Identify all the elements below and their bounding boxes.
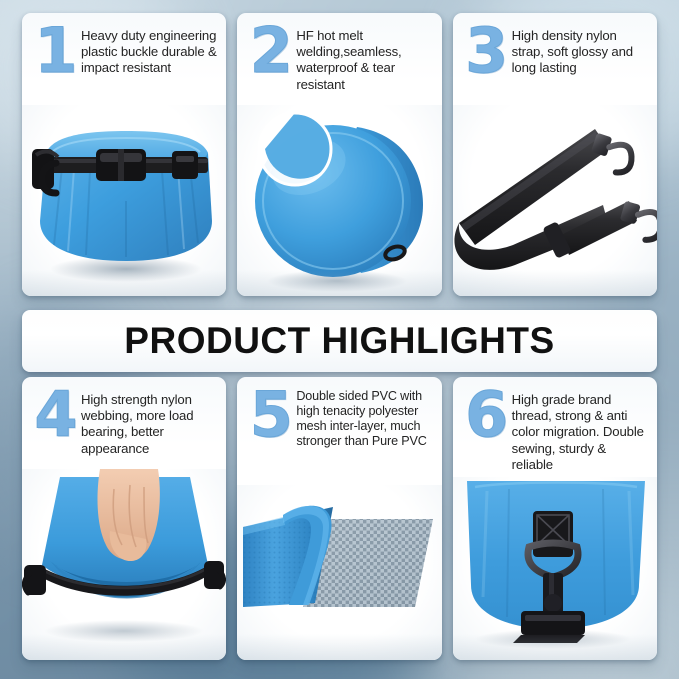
feature-5-header: 5 Double sided PVC with high tenacity po… — [237, 377, 441, 469]
feature-6-number: 6 — [463, 386, 509, 443]
feature-1-description: Heavy duty engineering plastic buckle du… — [78, 22, 217, 77]
feature-4-description: High strength nylon webbing, more load b… — [78, 386, 217, 457]
feature-row-top: 1 Heavy duty engineering plastic buckle … — [22, 13, 657, 296]
feature-4-header: 4 High strength nylon webbing, more load… — [22, 377, 226, 469]
feature-3-number: 3 — [463, 22, 509, 79]
feature-card-1[interactable]: 1 Heavy duty engineering plastic buckle … — [22, 13, 226, 296]
feature-card-6[interactable]: 6 High grade brand thread, strong & anti… — [453, 377, 657, 660]
feature-card-5[interactable]: 5 Double sided PVC with high tenacity po… — [237, 377, 441, 660]
welded-bottom-illustration — [237, 105, 441, 296]
pvc-mesh-swatch-illustration — [237, 485, 441, 660]
feature-1-number: 1 — [32, 22, 78, 79]
feature-3-description: High density nylon strap, soft glossy an… — [509, 22, 648, 77]
feature-4-image — [22, 469, 226, 660]
feature-5-image — [237, 485, 441, 660]
d-ring-stitched-webbing-illustration — [453, 477, 657, 660]
banner-title: PRODUCT HIGHLIGHTS — [124, 320, 554, 362]
feature-grid: 1 Heavy duty engineering plastic buckle … — [22, 13, 657, 296]
feature-1-header: 1 Heavy duty engineering plastic buckle … — [22, 13, 226, 105]
feature-2-description: HF hot melt welding,seamless, waterproof… — [293, 22, 432, 93]
shoulder-strap-illustration — [453, 105, 657, 296]
feature-4-number: 4 — [32, 386, 78, 443]
feature-grid-bottom: 4 High strength nylon webbing, more load… — [22, 377, 657, 660]
feature-6-header: 6 High grade brand thread, strong & anti… — [453, 377, 657, 469]
feature-5-number: 5 — [247, 386, 293, 443]
feature-2-number: 2 — [247, 22, 293, 79]
hand-holding-webbing-illustration — [22, 469, 226, 660]
feature-card-2[interactable]: 2 HF hot melt welding,seamless, waterpro… — [237, 13, 441, 296]
feature-2-header: 2 HF hot melt welding,seamless, waterpro… — [237, 13, 441, 105]
feature-3-image — [453, 105, 657, 296]
feature-card-4[interactable]: 4 High strength nylon webbing, more load… — [22, 377, 226, 660]
feature-1-image — [22, 105, 226, 296]
product-highlights-banner: PRODUCT HIGHLIGHTS — [22, 310, 657, 372]
feature-row-bottom: 4 High strength nylon webbing, more load… — [22, 377, 657, 660]
feature-6-image — [453, 477, 657, 660]
feature-card-3[interactable]: 3 High density nylon strap, soft glossy … — [453, 13, 657, 296]
feature-6-description: High grade brand thread, strong & anti c… — [509, 386, 648, 473]
feature-5-description: Double sided PVC with high tenacity poly… — [293, 386, 432, 449]
dry-bag-buckle-illustration — [22, 105, 226, 296]
feature-3-header: 3 High density nylon strap, soft glossy … — [453, 13, 657, 105]
feature-2-image — [237, 105, 441, 296]
